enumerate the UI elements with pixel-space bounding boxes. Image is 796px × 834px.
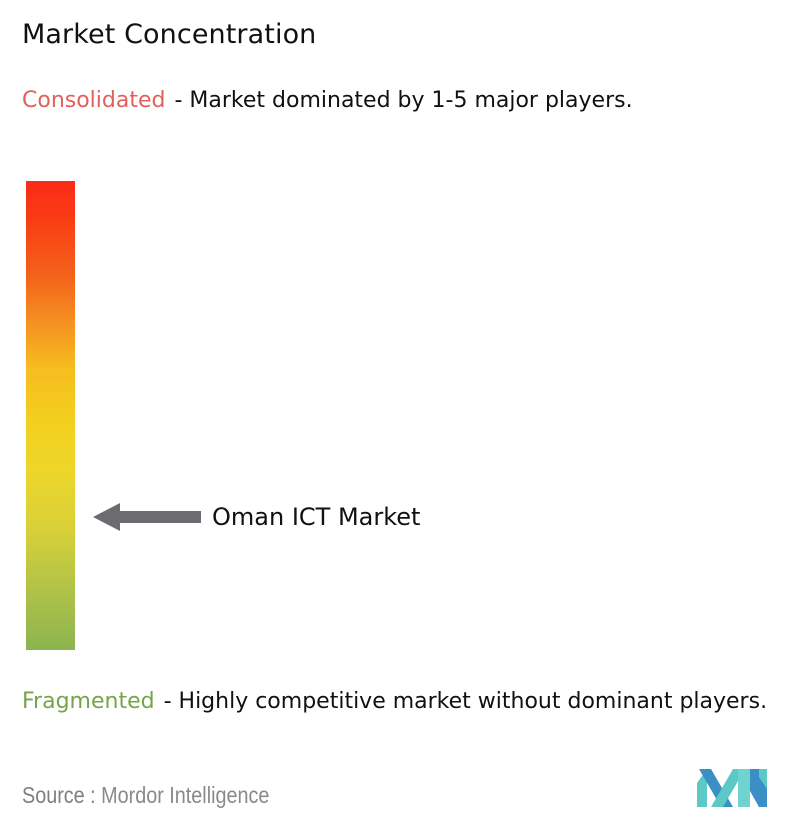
market-pointer-arrow — [93, 502, 201, 532]
mordor-intelligence-logo-icon — [697, 769, 767, 807]
legend-fragmented-description: - Highly competitive market without domi… — [164, 689, 767, 714]
source-value: Mordor Intelligence — [101, 782, 269, 808]
legend-fragmented-term: Fragmented — [22, 689, 155, 714]
legend-consolidated-description: - Market dominated by 1-5 major players. — [174, 88, 632, 113]
left-arrow-icon — [93, 502, 201, 532]
source-line: Source : Mordor Intelligence — [22, 780, 269, 810]
concentration-scale-bar — [26, 181, 75, 650]
legend-consolidated-term: Consolidated — [22, 88, 165, 113]
page-title: Market Concentration — [22, 18, 316, 52]
market-pointer-label: Oman ICT Market — [212, 502, 420, 532]
mordor-intelligence-logo — [697, 769, 767, 807]
legend-consolidated: Consolidated- Market dominated by 1-5 ma… — [22, 85, 774, 117]
legend-fragmented: Fragmented- Highly competitive market wi… — [22, 686, 788, 718]
source-label: Source : — [22, 782, 96, 808]
